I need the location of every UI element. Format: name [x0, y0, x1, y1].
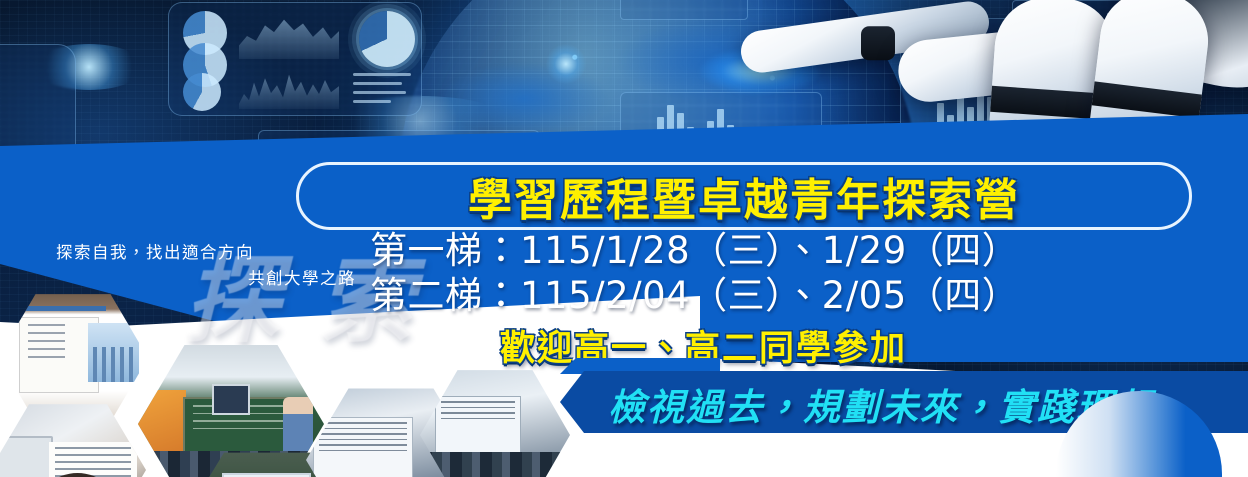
- event-title-text: 學習歷程暨卓越青年探索營: [468, 164, 1020, 228]
- tagline-line-1: 探索自我，找出適合方向: [56, 243, 254, 262]
- event-promo-banner: 探索 探索自我，找出適合方向 共創大學之路 學習歷程暨卓越青年探索營 第一梯：1…: [0, 0, 1248, 477]
- tagline-block: 探索自我，找出適合方向 共創大學之路: [56, 240, 356, 291]
- photo-student-writing-notes: [0, 400, 146, 477]
- session-date-1: 第一梯：115/1/28（三）、1/29（四）: [370, 228, 1170, 273]
- hud-small-tag: [620, 0, 748, 20]
- area-chart-graphic: [239, 11, 339, 59]
- skyline-chart-graphic: [239, 65, 339, 109]
- photo-collage: 學習歷程探索營: [0, 288, 528, 477]
- event-title-pill: 學習歷程暨卓越青年探索營: [296, 162, 1192, 230]
- donut-chart-icon: [359, 11, 415, 67]
- hud-dashboard-panel: [168, 2, 422, 116]
- lens-flare-glow: [546, 44, 586, 84]
